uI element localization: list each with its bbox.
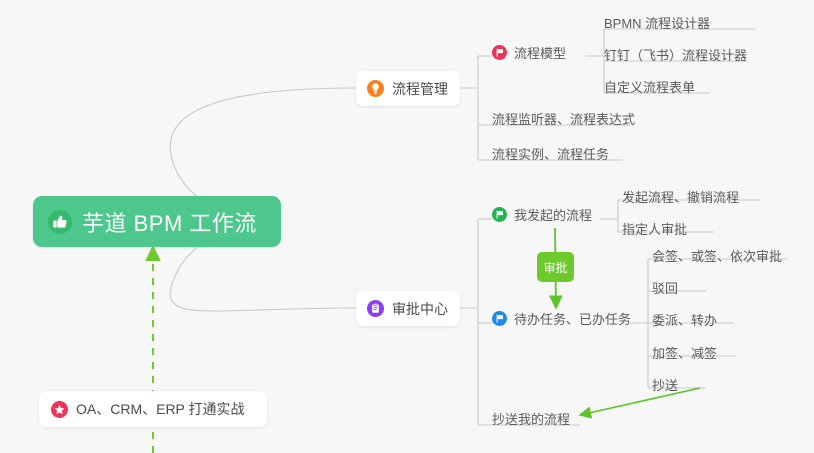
- sub-label-flow-model: 流程模型: [514, 43, 566, 62]
- branch-node-flow-management[interactable]: 流程管理: [356, 71, 460, 106]
- approval-badge-label: 审批: [543, 259, 567, 276]
- leaf-node-reject[interactable]: 驳回: [652, 278, 678, 300]
- mindmap-canvas: 芋道 BPM 工作流 流程管理 审批中心: [0, 0, 814, 453]
- leaf-node-assignee-approval[interactable]: 指定人审批: [622, 219, 687, 241]
- branch-node-approval-center[interactable]: 审批中心: [356, 291, 460, 326]
- thumbs-up-icon: [47, 209, 73, 235]
- leaf-node-add-remove-sign[interactable]: 加签、减签: [652, 343, 717, 365]
- root-node[interactable]: 芋道 BPM 工作流: [33, 196, 281, 247]
- flag-icon: [492, 207, 507, 222]
- lightbulb-icon: [367, 80, 384, 97]
- branch-label-approval-center: 审批中心: [392, 299, 448, 319]
- sub-node-my-started-flows[interactable]: 我发起的流程: [492, 205, 592, 227]
- leaf-node-start-cancel-flow[interactable]: 发起流程、撤销流程: [622, 187, 739, 209]
- leaf-node-delegate-transfer[interactable]: 委派、转办: [652, 310, 717, 332]
- leaf-node-custom-flow-form[interactable]: 自定义流程表单: [604, 77, 695, 99]
- star-icon: [51, 401, 68, 418]
- root-label: 芋道 BPM 工作流: [82, 206, 257, 238]
- flag-icon: [492, 311, 507, 326]
- annotation-label: OA、CRM、ERP 打通实战: [76, 399, 245, 419]
- sub-node-todo-done-tasks[interactable]: 待办任务、已办任务: [492, 309, 631, 331]
- leaf-node-countersign-or-sequential[interactable]: 会签、或签、依次审批: [652, 246, 782, 268]
- leaf-node-cc-to-me-flows[interactable]: 抄送我的流程: [492, 409, 570, 431]
- flag-icon: [492, 45, 507, 60]
- cc-flow-arrow: [580, 388, 700, 415]
- leaf-node-cc[interactable]: 抄送: [652, 375, 678, 397]
- leaf-node-bpmn-designer[interactable]: BPMN 流程设计器: [604, 13, 710, 35]
- leaf-node-dingtalk-feishu-designer[interactable]: 钉钉（飞书）流程设计器: [604, 45, 747, 67]
- sub-label-my-started-flows: 我发起的流程: [514, 205, 592, 224]
- sub-node-flow-model[interactable]: 流程模型: [492, 43, 566, 65]
- sub-label-todo-done-tasks: 待办任务、已办任务: [514, 309, 631, 328]
- annotation-node[interactable]: OA、CRM、ERP 打通实战: [39, 391, 267, 427]
- leaf-node-flow-instance-task[interactable]: 流程实例、流程任务: [492, 144, 609, 166]
- leaf-node-flow-listener-expression[interactable]: 流程监听器、流程表达式: [492, 109, 635, 131]
- clipboard-icon: [367, 300, 384, 317]
- branch-label-flow-management: 流程管理: [392, 79, 448, 99]
- approval-badge[interactable]: 审批: [537, 252, 574, 282]
